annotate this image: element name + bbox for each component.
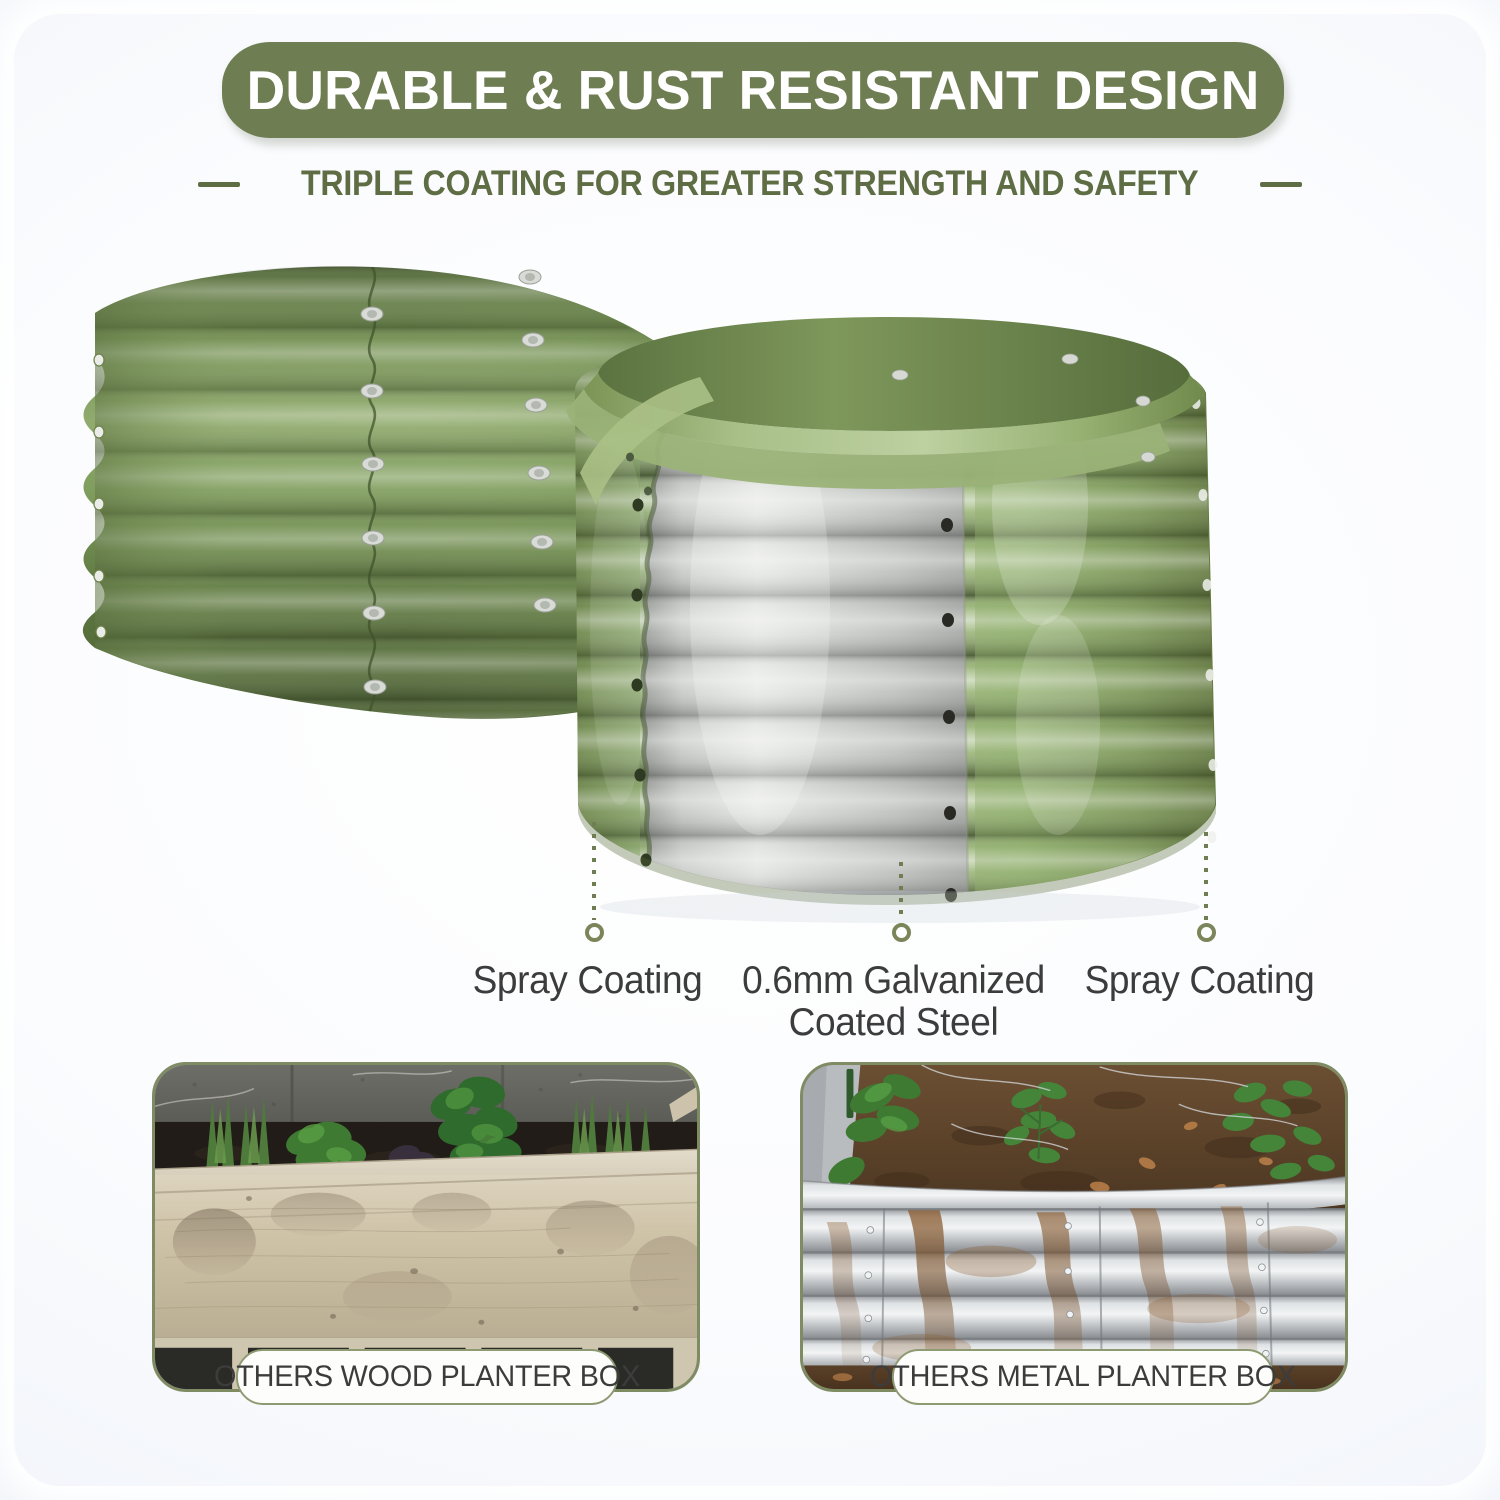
leader-line-spray-coating-left	[586, 822, 602, 942]
caption-wood-planter: OTHERS WOOD PLANTER BOX	[236, 1349, 618, 1405]
dash-left-icon	[198, 182, 240, 187]
comparison-row	[0, 1062, 1500, 1462]
callout-label-spray-coating-right: Spray Coating	[1031, 960, 1368, 1002]
title-banner: DURABLE & RUST RESISTANT DESIGN	[222, 42, 1284, 138]
leader-line-spray-coating-right	[1198, 832, 1214, 942]
leader-endpoint-circle-icon	[892, 923, 911, 942]
callout-line-2: Coated Steel	[725, 1002, 1062, 1044]
leader-line-galvanized-steel	[893, 862, 909, 942]
leader-endpoint-circle-icon	[585, 923, 604, 942]
dotted-line	[592, 822, 596, 920]
subtitle-row: TRIPLE COATING FOR GREATER STRENGTH AND …	[0, 158, 1500, 210]
page-subtitle: TRIPLE COATING FOR GREATER STRENGTH AND …	[301, 164, 1198, 204]
callout-label-galvanized-steel: 0.6mm Galvanized Coated Steel	[725, 960, 1062, 1043]
product-illustration	[0, 205, 1500, 925]
callout-line-1: 0.6mm Galvanized	[725, 960, 1062, 1002]
cylinder-group	[560, 317, 1240, 911]
dash-right-icon	[1260, 182, 1302, 187]
leader-endpoint-circle-icon	[1197, 923, 1216, 942]
callout-label-spray-coating-left: Spray Coating	[419, 960, 756, 1002]
comparison-photo-metal-planter	[800, 1062, 1348, 1392]
callout-line-1: Spray Coating	[419, 960, 756, 1002]
comparison-photo-wood-planter	[152, 1062, 700, 1392]
page-title: DURABLE & RUST RESISTANT DESIGN	[247, 58, 1260, 122]
dotted-line	[1204, 832, 1208, 920]
dotted-line	[899, 862, 903, 920]
infographic-page: DURABLE & RUST RESISTANT DESIGN TRIPLE C…	[0, 0, 1500, 1500]
callout-label-group: Spray Coating 0.6mm Galvanized Coated St…	[0, 960, 1500, 1050]
callout-line-1: Spray Coating	[1031, 960, 1368, 1002]
caption-metal-planter: OTHERS METAL PLANTER BOX	[892, 1349, 1274, 1405]
